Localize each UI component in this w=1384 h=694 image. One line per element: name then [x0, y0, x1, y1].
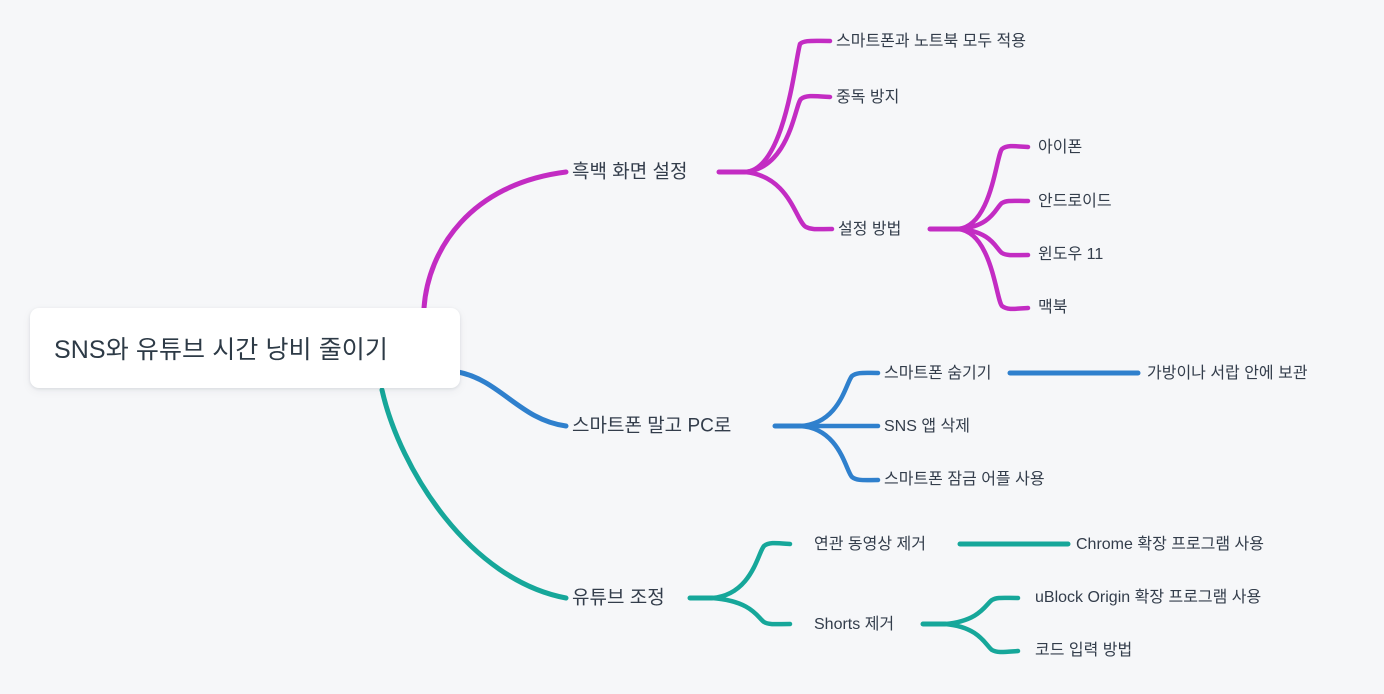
node-iphone[interactable]: 아이폰: [1038, 140, 1082, 156]
node-delete-sns-app[interactable]: SNS 앱 삭제: [884, 419, 970, 435]
connector-remove-shorts-to-ublock: [945, 598, 1018, 624]
connector-root-to-youtube: [382, 390, 566, 598]
node-lock-app-usage[interactable]: 스마트폰 잠금 어플 사용: [884, 472, 1045, 488]
node-setup-method[interactable]: 설정 방법: [838, 222, 901, 238]
connector-remove-shorts-to-code: [945, 624, 1018, 652]
connector-use-pc-to-lock-app: [800, 426, 878, 480]
node-store-in-bag-or-drawer[interactable]: 가방이나 서랍 안에 보관: [1147, 366, 1308, 382]
node-android[interactable]: 안드로이드: [1038, 194, 1112, 210]
connector-root-to-use-pc: [458, 372, 566, 426]
connector-youtube-to-remove-shorts: [712, 598, 790, 624]
node-ublock-origin-extension[interactable]: uBlock Origin 확장 프로그램 사용: [1035, 590, 1261, 606]
connector-youtube-to-remove-related: [712, 543, 790, 598]
node-addiction-prevention[interactable]: 중독 방지: [836, 90, 899, 106]
node-macbook[interactable]: 맥북: [1038, 300, 1067, 316]
node-monochrome-settings[interactable]: 흑백 화면 설정: [572, 163, 687, 182]
connector-monochrome-to-setup: [745, 172, 832, 229]
root-node-label: SNS와 유튜브 시간 낭비 줄이기: [54, 330, 388, 366]
node-youtube-tuning[interactable]: 유튜브 조정: [572, 589, 665, 608]
connector-monochrome-to-both-devices: [745, 41, 830, 172]
node-both-devices[interactable]: 스마트폰과 노트북 모두 적용: [836, 34, 1026, 50]
connector-use-pc-to-hide-phone: [800, 373, 878, 426]
node-use-pc-instead[interactable]: 스마트폰 말고 PC로: [572, 417, 731, 436]
node-chrome-extension[interactable]: Chrome 확장 프로그램 사용: [1076, 537, 1264, 553]
node-code-input-method[interactable]: 코드 입력 방법: [1035, 643, 1132, 659]
node-hide-smartphone[interactable]: 스마트폰 숨기기: [884, 366, 992, 382]
root-node[interactable]: SNS와 유튜브 시간 낭비 줄이기: [30, 308, 460, 388]
node-windows-11[interactable]: 윈도우 11: [1038, 247, 1103, 263]
connector-root-to-monochrome: [424, 172, 566, 308]
node-remove-shorts[interactable]: Shorts 제거: [814, 617, 894, 633]
node-remove-related-videos[interactable]: 연관 동영상 제거: [814, 537, 926, 553]
